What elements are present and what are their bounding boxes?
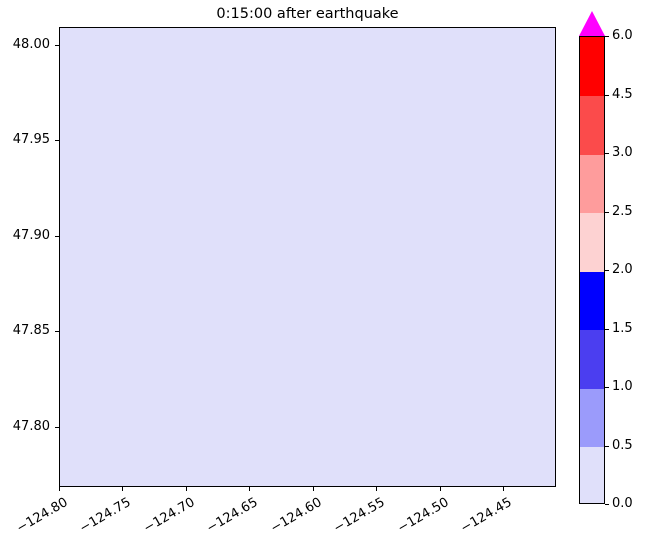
colorbar-tick-mark <box>605 270 609 271</box>
x-tick-label: −124.60 <box>263 495 324 539</box>
y-tick-label: 47.80 <box>0 419 50 434</box>
colorbar-tick-label: 3.0 <box>612 145 633 160</box>
colorbar-extend-arrow-icon <box>579 11 605 36</box>
colorbar-tick-mark <box>605 329 609 330</box>
colorbar-gradient-bar <box>579 36 605 504</box>
y-tick-mark <box>55 140 59 141</box>
x-tick-label: −124.55 <box>326 495 387 539</box>
colorbar-tick-label: 1.5 <box>612 321 633 336</box>
y-tick-mark <box>55 331 59 332</box>
y-tick-label: 48.00 <box>0 37 50 52</box>
x-tick-label: −124.65 <box>199 495 260 539</box>
colorbar-band <box>580 271 604 330</box>
colorbar-tick-label: 0.0 <box>612 496 633 511</box>
page-title: 0:15:00 after earthquake <box>59 5 556 23</box>
x-tick-label: −124.50 <box>390 495 451 539</box>
colorbar-tick-label: 0.5 <box>612 438 633 453</box>
x-tick-mark <box>313 487 314 491</box>
colorbar-tick-mark <box>605 504 609 505</box>
x-tick-label: −124.45 <box>453 495 514 539</box>
colorbar-tick-mark <box>605 95 609 96</box>
colorbar-tick-mark <box>605 387 609 388</box>
colorbar-band <box>580 96 604 155</box>
map-axes[interactable] <box>59 27 556 487</box>
colorbar-tick-label: 2.5 <box>612 204 633 219</box>
y-tick-label: 47.85 <box>0 323 50 338</box>
colorbar-band <box>580 447 604 505</box>
colorbar-tick-mark <box>605 446 609 447</box>
x-tick-mark <box>503 487 504 491</box>
colorbar-tick-mark <box>605 212 609 213</box>
x-tick-label: −124.70 <box>136 495 197 539</box>
colorbar-band <box>580 154 604 213</box>
y-tick-mark <box>55 236 59 237</box>
colorbar-band <box>580 37 604 96</box>
colorbar-tick-label: 6.0 <box>612 28 633 43</box>
colorbar-band <box>580 213 604 272</box>
colorbar-tick-mark <box>605 153 609 154</box>
x-tick-mark <box>249 487 250 491</box>
colorbar-tick-label: 4.5 <box>612 87 633 102</box>
x-tick-mark <box>440 487 441 491</box>
colorbar-tick-label: 1.0 <box>612 379 633 394</box>
colorbar-band <box>580 388 604 447</box>
x-tick-mark <box>59 487 60 491</box>
colorbar-band <box>580 330 604 389</box>
y-tick-mark <box>55 427 59 428</box>
colorbar-tick-label: 2.0 <box>612 262 633 277</box>
x-tick-mark <box>186 487 187 491</box>
y-tick-mark <box>55 45 59 46</box>
x-tick-mark <box>122 487 123 491</box>
x-tick-mark <box>376 487 377 491</box>
x-tick-label: −124.80 <box>9 495 70 539</box>
figure-canvas: 0:15:00 after earthquake −124.80−124.75−… <box>0 0 651 540</box>
colorbar-tick-mark <box>605 36 609 37</box>
x-tick-label: −124.75 <box>72 495 133 539</box>
y-tick-label: 47.90 <box>0 228 50 243</box>
map-raster-surface <box>60 28 555 486</box>
y-tick-label: 47.95 <box>0 132 50 147</box>
